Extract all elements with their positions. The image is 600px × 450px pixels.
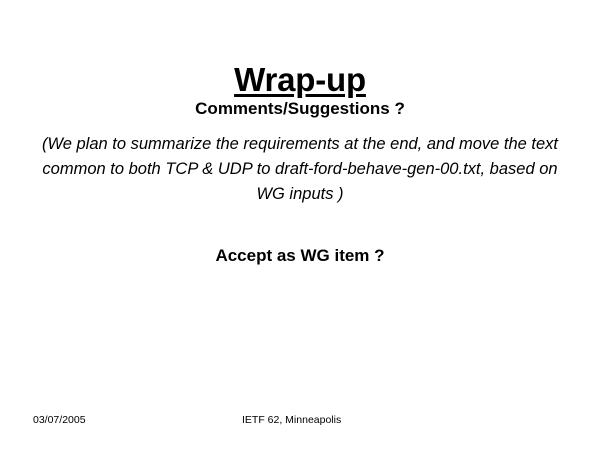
page-title-text: Wrap-up	[234, 61, 366, 98]
comments-suggestions-question: Comments/Suggestions ?	[30, 98, 570, 120]
parenthetical-note: (We plan to summarize the requirements a…	[30, 132, 570, 207]
footer-date: 03/07/2005	[33, 412, 86, 428]
slide-footer: 03/07/2005 IETF 62, Minneapolis	[0, 412, 600, 428]
footer-event-location: IETF 62, Minneapolis	[242, 412, 341, 428]
note-line-1: (We plan to summarize the requirements a…	[42, 135, 454, 153]
page-title: Wrap-up	[0, 60, 600, 100]
slide-canvas: Wrap-up Comments/Suggestions ? (We plan …	[0, 0, 600, 450]
slide-body: Comments/Suggestions ? (We plan to summa…	[30, 98, 570, 267]
accept-wg-item-question: Accept as WG item ?	[30, 245, 570, 267]
